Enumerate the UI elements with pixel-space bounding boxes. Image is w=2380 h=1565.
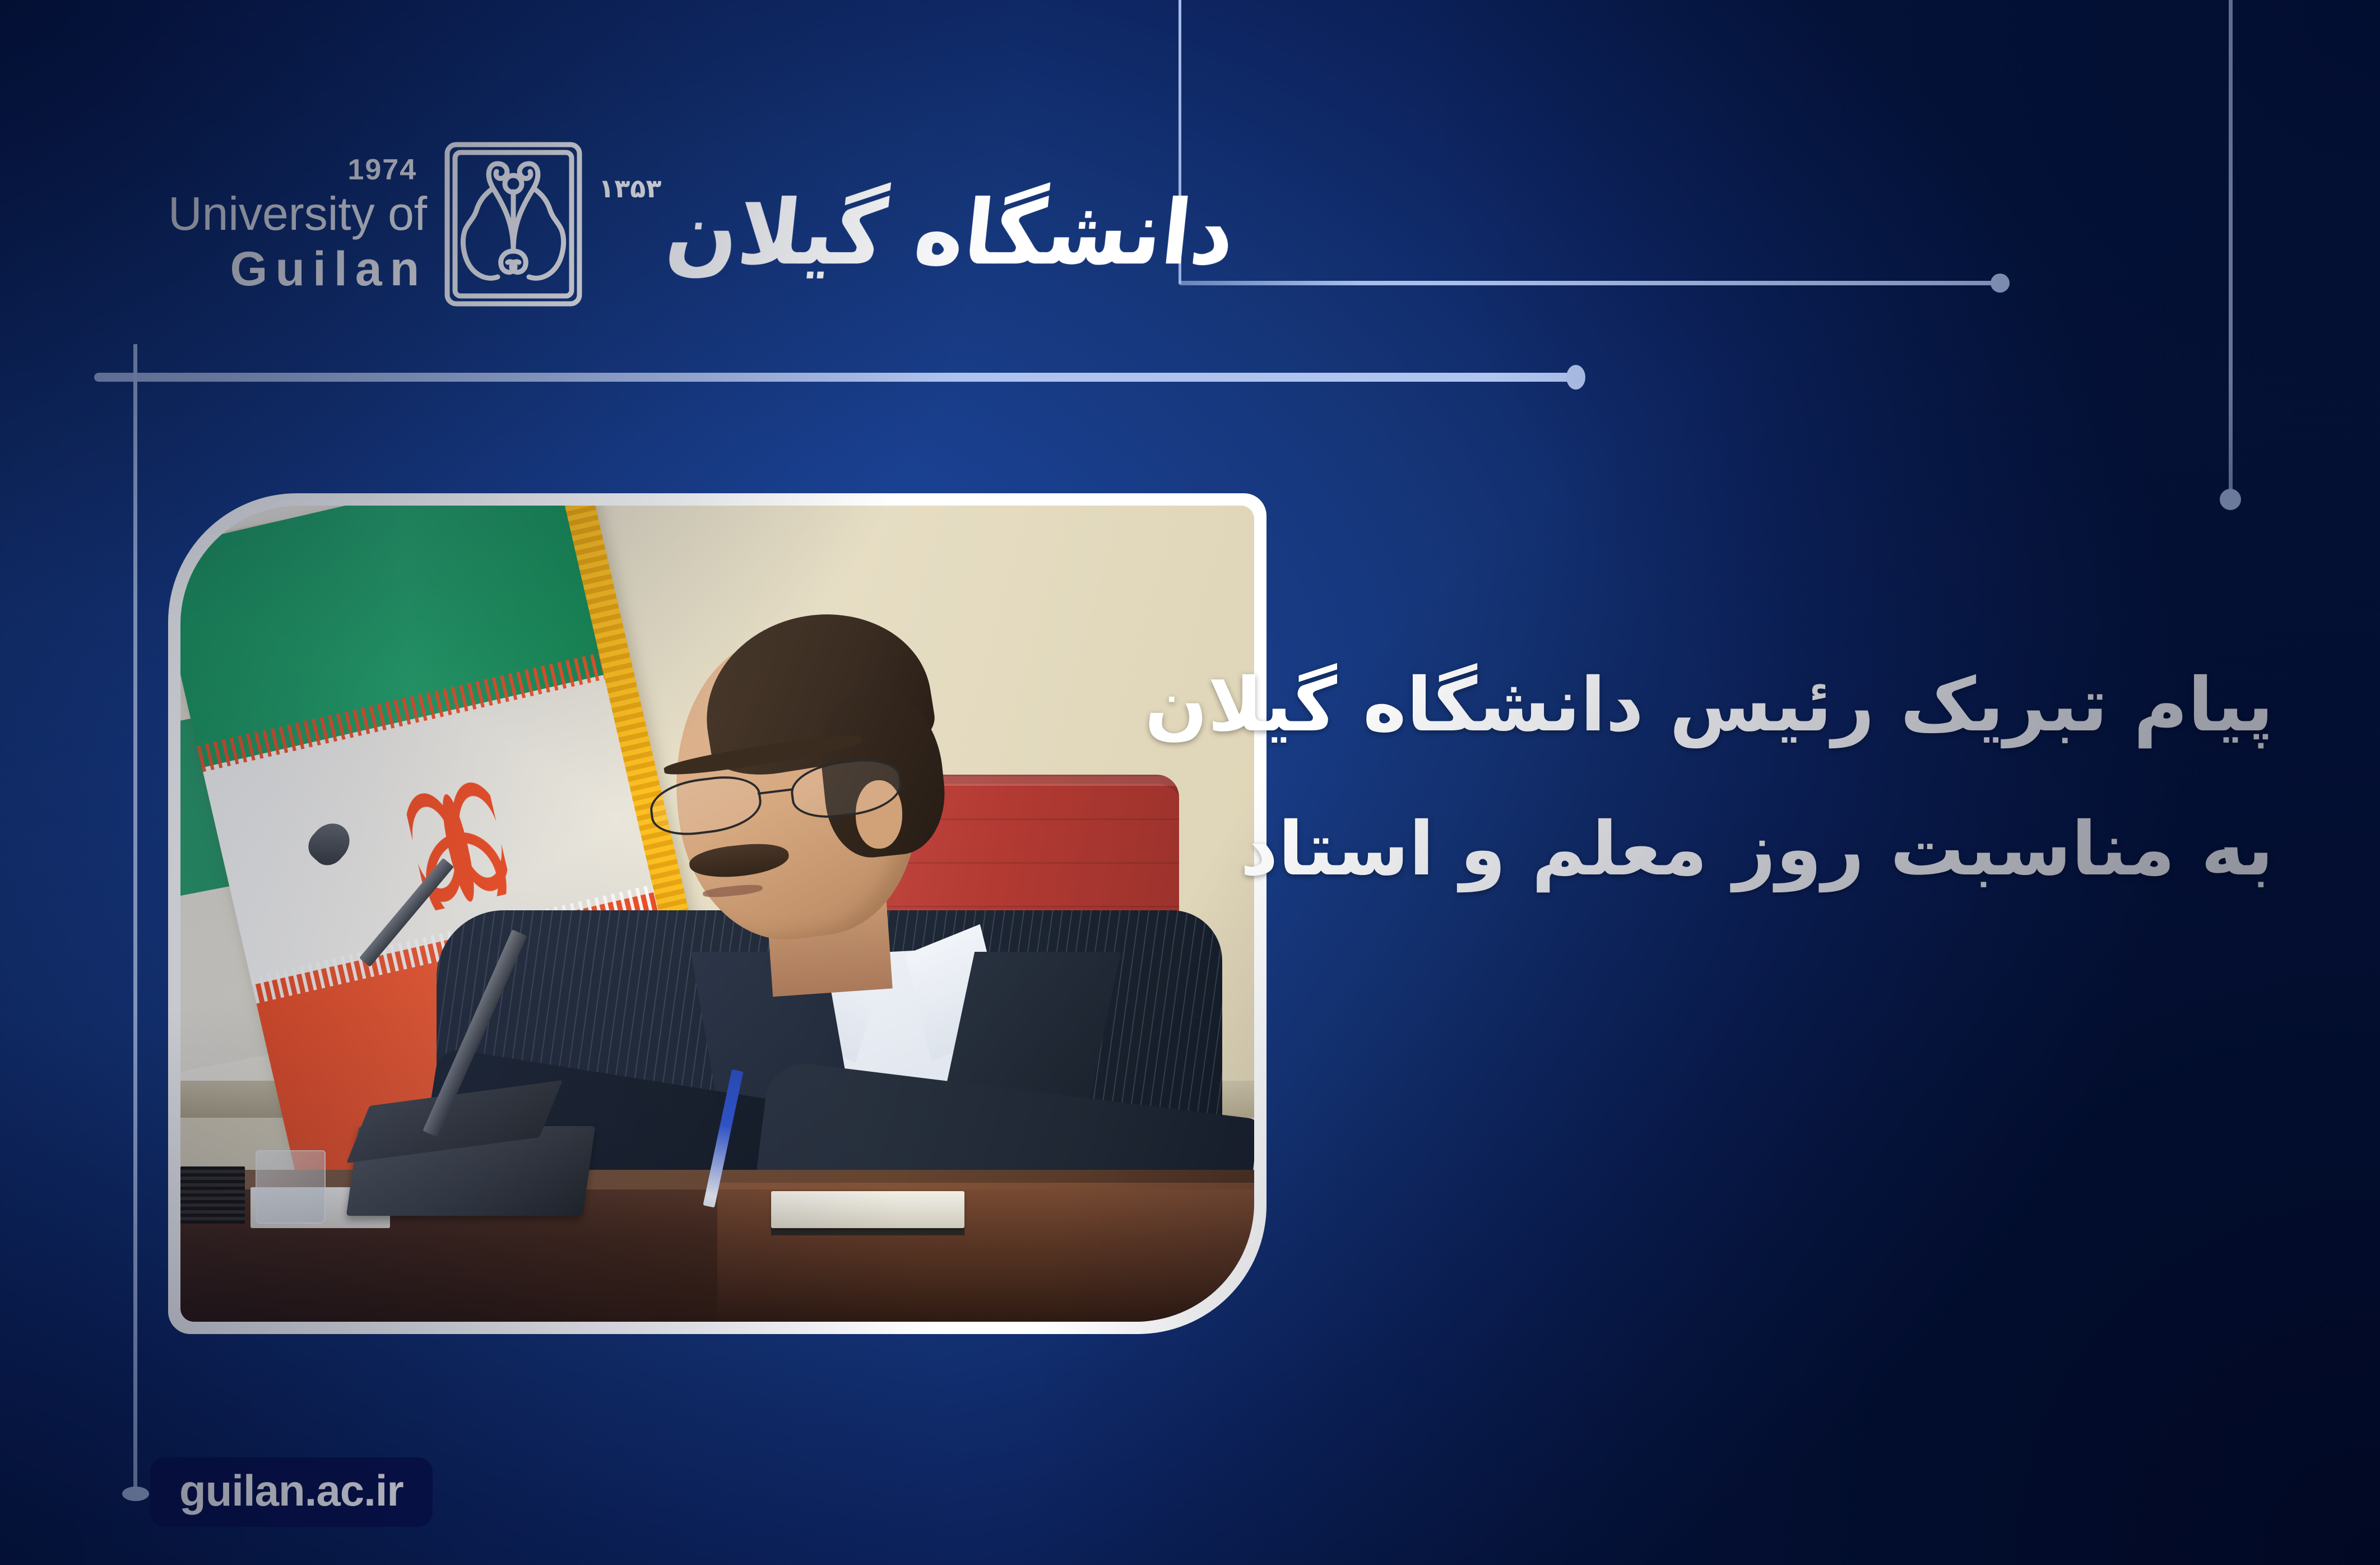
logo-english-text: 1974 University of Guilan [168,155,427,293]
logo-year-gregorian: 1974 [347,155,417,184]
decor-left-foot-dot [122,1487,149,1501]
photo-card [168,493,1266,1334]
photo-image [180,506,1254,1322]
water-glass [256,1150,326,1224]
notebook [771,1191,964,1228]
books-stack [180,1166,245,1224]
decor-left-vertical-line [133,344,137,1499]
decor-right-dot [2220,489,2241,510]
headline-line-2: به مناسبت روز معلم و استاد [1153,777,2274,922]
banner-canvas: 1974 University of Guilan [0,0,2380,1565]
decor-top-right-dot [1991,274,2010,293]
university-logo-lockup: 1974 University of Guilan [168,129,1235,320]
decor-right-vertical-line [2229,0,2233,493]
logo-university-name-persian: دانشگاه گیلان [662,189,1239,278]
logo-persian-text: ۱۳۵۳ دانشگاه گیلان [599,173,1234,275]
decor-top-right-horizontal-line [1179,281,2000,285]
website-url-badge[interactable]: guilan.ac.ir [150,1457,433,1527]
logo-guilan-word: Guilan [230,245,428,293]
logo-university-word: University of [168,190,427,237]
decor-mid-horizontal-line [94,373,1579,382]
logo-year-persian: ۱۳۵۳ [599,173,661,203]
decor-mid-dot [1566,365,1585,390]
guilan-butterfly-emblem-icon [442,140,585,308]
headline: پیام تبریک رئیس دانشگاه گیلان به مناسبت … [1153,633,2274,922]
headline-line-1: پیام تبریک رئیس دانشگاه گیلان [1153,633,2274,777]
